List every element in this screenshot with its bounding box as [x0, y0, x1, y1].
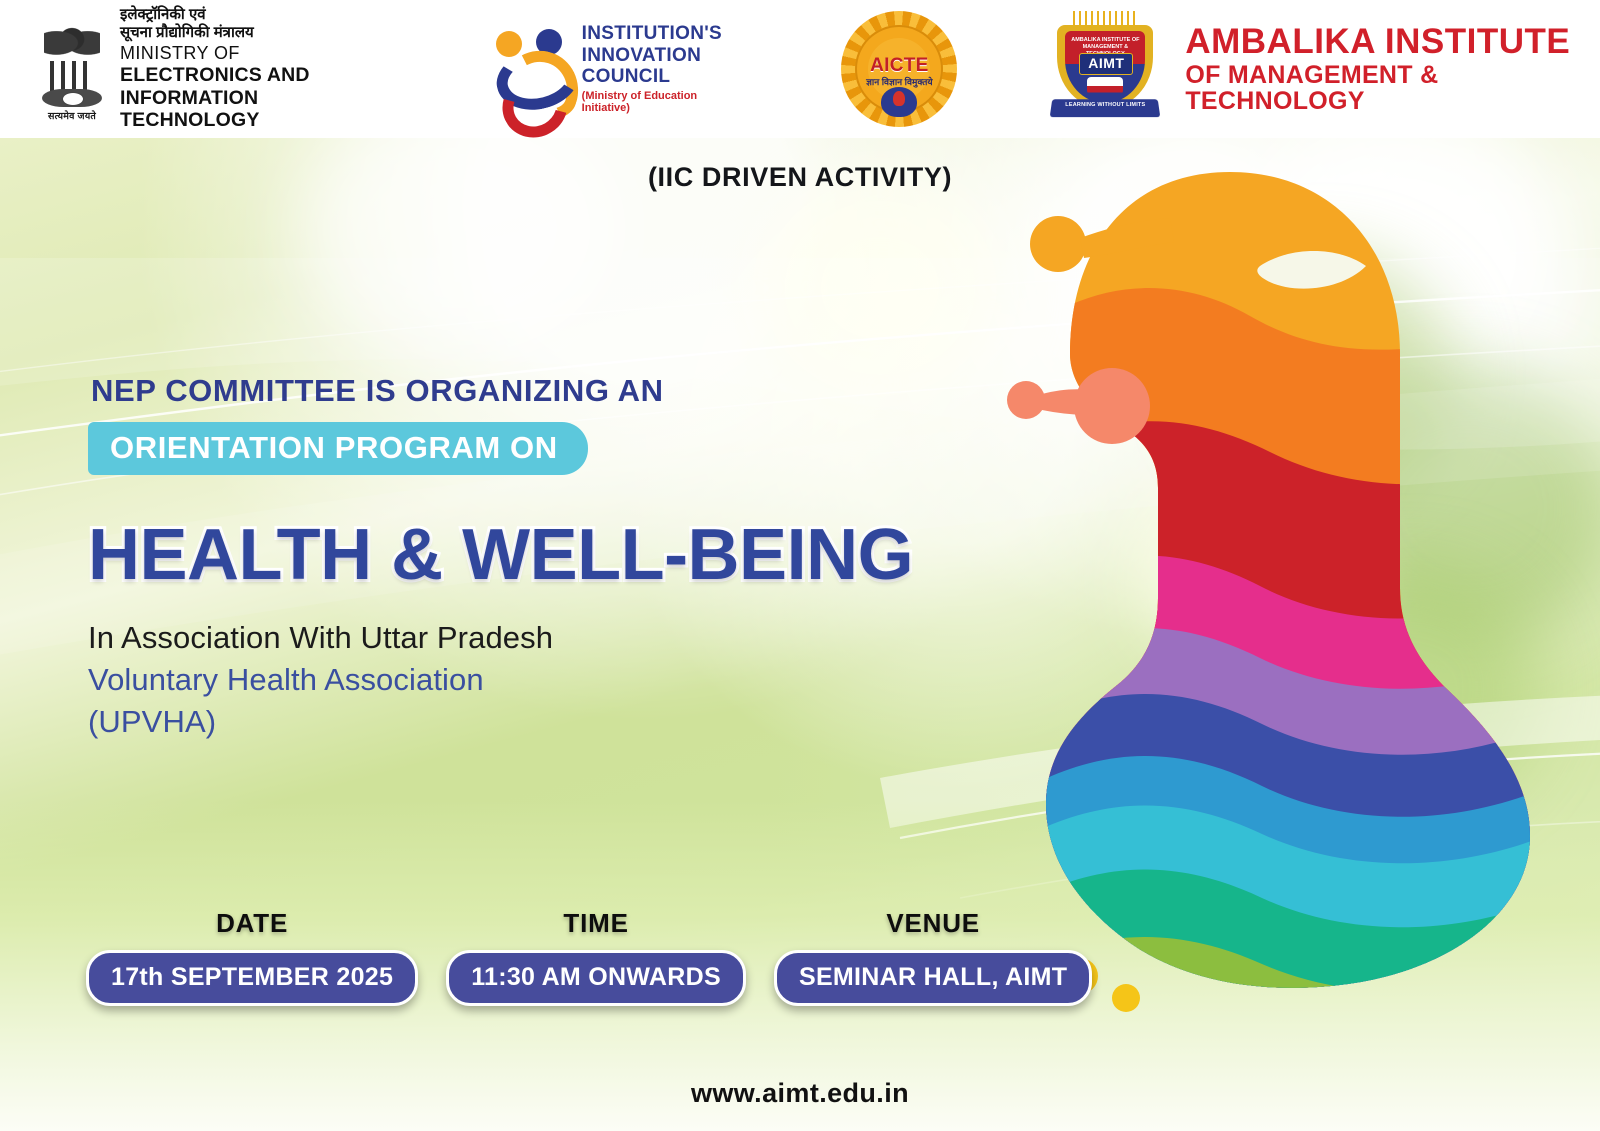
iic-subtitle: (Ministry of Education Initiative) [582, 90, 738, 115]
organizer-line: NEP COMMITTEE IS ORGANIZING AN [91, 373, 988, 409]
event-detail-time: TIME 11:30 AM ONWARDS [446, 908, 746, 1006]
meity-logo: सत्यमेव जयते इलेक्ट्रॉनिकी एवं सूचना प्र… [38, 0, 388, 138]
website-url[interactable]: www.aimt.edu.in [0, 1078, 1600, 1109]
poster-root: सत्यमेव जयते इलेक्ट्रॉनिकी एवं सूचना प्र… [0, 0, 1600, 1131]
meity-hindi-line2: सूचना प्रौद्योगिकी मंत्रालय [120, 24, 388, 41]
association-line-2: Voluntary Health Association [88, 659, 988, 701]
iic-line1: INSTITUTION'S [582, 23, 738, 44]
iic-logo: INSTITUTION'S INNOVATION COUNCIL (Minist… [492, 0, 738, 138]
aicte-acronym: AICTE [837, 55, 961, 77]
aimt-shield-acronym: AIMT [1079, 53, 1133, 75]
aimt-logo: AMBALIKA INSTITUTE OF MANAGEMENT & TECHN… [1047, 0, 1600, 138]
meity-en-line1: MINISTRY OF [120, 43, 388, 64]
iic-driven-activity-tag: (IIC DRIVEN ACTIVITY) [0, 162, 1600, 193]
time-heading: TIME [563, 908, 628, 939]
program-pill: ORIENTATION PROGRAM ON [88, 422, 588, 475]
event-detail-venue: VENUE SEMINAR HALL, AIMT [774, 908, 1092, 1006]
association-line-1: In Association With Uttar Pradesh [88, 617, 988, 659]
ashoka-emblem-icon: सत्यमेव जयते [38, 15, 106, 123]
aimt-line2: OF MANAGEMENT & TECHNOLOGY [1185, 62, 1600, 114]
aimt-logo-text: AMBALIKA INSTITUTE OF MANAGEMENT & TECHN… [1185, 24, 1600, 114]
artwork-color-bands [1030, 158, 1550, 1058]
iic-line3: COUNCIL [582, 66, 738, 87]
aimt-shield-ribbon-text: LEARNING WITHOUT LIMITS [1051, 102, 1159, 108]
aimt-shield-icon: AMBALIKA INSTITUTE OF MANAGEMENT & TECHN… [1047, 11, 1163, 127]
emblem-motto: सत्यमेव जयते [38, 109, 106, 122]
header-logo-band: सत्यमेव जयते इलेक्ट्रॉनिकी एवं सूचना प्र… [0, 0, 1600, 138]
association-block: In Association With Uttar Pradesh Volunt… [88, 617, 988, 743]
aicte-lamp-icon [881, 87, 917, 117]
meity-en-line2: ELECTRONICS AND [120, 64, 388, 87]
aicte-gear-icon: AICTE ज्ञान विज्ञान विमुक्तये [837, 9, 961, 129]
iic-logo-text: INSTITUTION'S INNOVATION COUNCIL (Minist… [582, 23, 738, 114]
meity-en-line3: INFORMATION TECHNOLOGY [120, 87, 388, 132]
association-line-3: (UPVHA) [88, 701, 988, 743]
venue-badge: SEMINAR HALL, AIMT [774, 950, 1092, 1006]
poster-canvas: (IIC DRIVEN ACTIVITY) NEP COMMITTEE IS O… [0, 138, 1600, 1131]
aicte-logo: AICTE ज्ञान विज्ञान विमुक्तये [837, 0, 961, 138]
event-detail-date: DATE 17th SEPTEMBER 2025 [86, 908, 418, 1006]
aimt-line1: AMBALIKA INSTITUTE [1185, 24, 1600, 60]
event-details-row: DATE 17th SEPTEMBER 2025 TIME 11:30 AM O… [86, 908, 1092, 1006]
venue-heading: VENUE [886, 908, 980, 939]
iic-figures-icon [492, 21, 570, 117]
date-heading: DATE [216, 908, 288, 939]
time-badge: 11:30 AM ONWARDS [446, 950, 746, 1006]
meity-logo-text: इलेक्ट्रॉनिकी एवं सूचना प्रौद्योगिकी मंत… [120, 6, 388, 131]
poster-copy-block: NEP COMMITTEE IS ORGANIZING AN ORIENTATI… [88, 373, 988, 743]
iic-line2: INNOVATION [582, 45, 738, 66]
meity-hindi-line1: इलेक्ट्रॉनिकी एवं [120, 6, 388, 23]
page-title: HEALTH & WELL-BEING [88, 519, 988, 591]
date-badge: 17th SEPTEMBER 2025 [86, 950, 418, 1006]
